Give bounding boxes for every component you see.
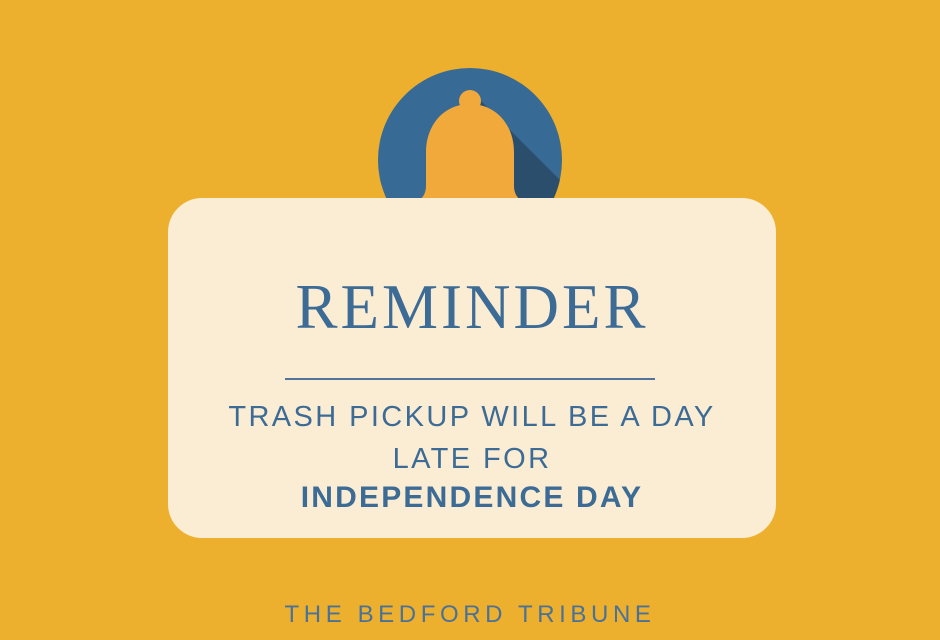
reminder-poster: REMINDER TRASH PICKUP WILL BE A DAY LATE…	[0, 0, 940, 640]
page-title: REMINDER	[168, 276, 776, 339]
reminder-card: REMINDER TRASH PICKUP WILL BE A DAY LATE…	[168, 198, 776, 538]
reminder-highlight-text: INDEPENDENCE DAY	[190, 483, 754, 513]
reminder-body-text: TRASH PICKUP WILL BE A DAY LATE FOR	[190, 396, 754, 480]
publisher-name: THE BEDFORD TRIBUNE	[0, 602, 940, 628]
title-divider	[285, 378, 655, 380]
